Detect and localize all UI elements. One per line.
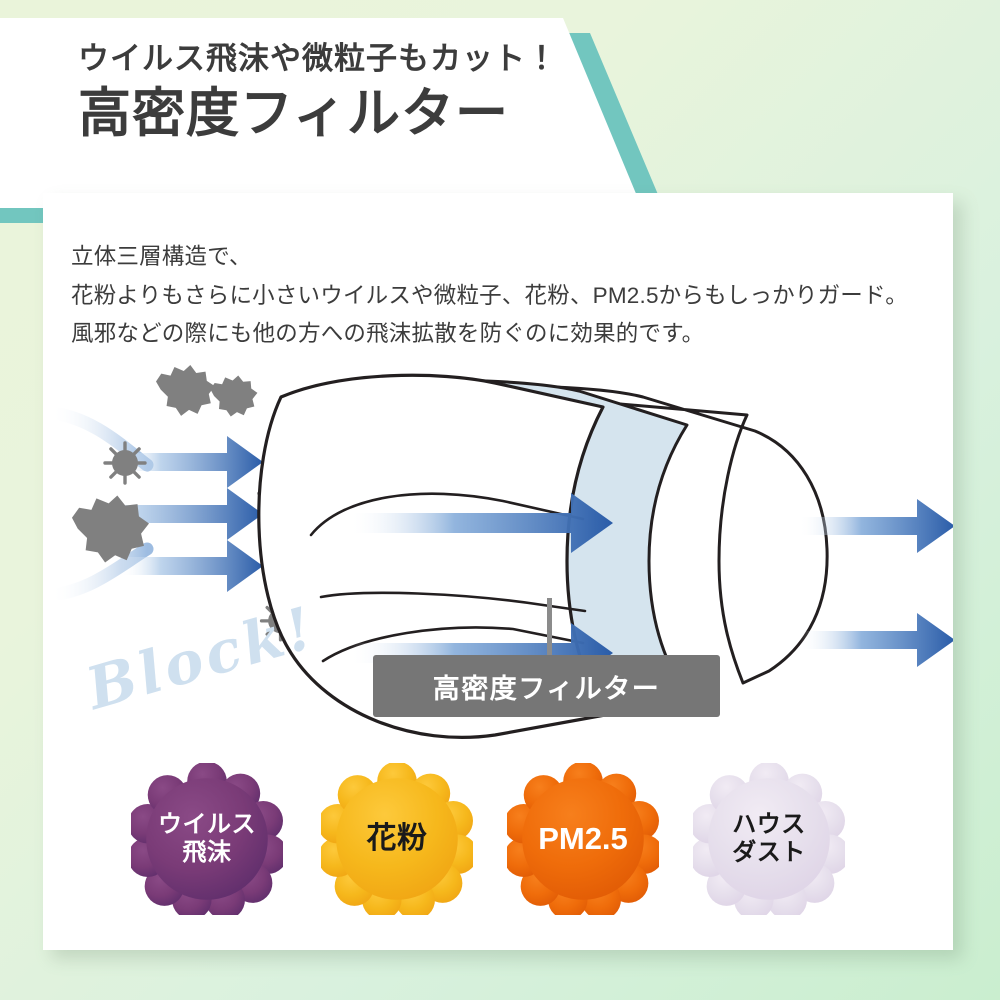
filter-callout-box: 高密度フィルター bbox=[373, 655, 720, 717]
badge-pm25: PM2.5 bbox=[507, 763, 659, 915]
banner-text-group: ウイルス飛沫や微粒子もカット！ 高密度フィルター bbox=[78, 40, 638, 145]
infographic-root: ウイルス飛沫や微粒子もカット！ 高密度フィルター 立体三層構造で、 花粉よりもさ… bbox=[0, 0, 1000, 1000]
body-copy-line-2: 花粉よりもさらに小さいウイルスや微粒子、花粉、PM2.5からもしっかりガード。 bbox=[71, 277, 931, 316]
badge-pollen: 花粉 bbox=[321, 763, 473, 915]
banner-headline: 高密度フィルター bbox=[78, 83, 638, 146]
badge-label: ハウス ダスト bbox=[732, 811, 806, 868]
body-copy-line-1: 立体三層構造で、 bbox=[71, 238, 931, 277]
badge-row: ウイルス 飛沫 bbox=[131, 763, 931, 938]
body-copy: 立体三層構造で、 花粉よりもさらに小さいウイルスや微粒子、花粉、PM2.5からも… bbox=[71, 238, 931, 354]
badge-label: PM2.5 bbox=[538, 821, 628, 858]
content-card: 立体三層構造で、 花粉よりもさらに小さいウイルスや微粒子、花粉、PM2.5からも… bbox=[43, 193, 953, 950]
badge-label: ウイルス 飛沫 bbox=[158, 811, 256, 868]
filter-callout-label: 高密度フィルター bbox=[433, 667, 660, 706]
body-copy-line-3: 風邪などの際にも他の方への飛沫拡散を防ぐのに効果的です。 bbox=[71, 315, 931, 354]
badge-label: 花粉 bbox=[367, 821, 428, 856]
badge-virus-droplet: ウイルス 飛沫 bbox=[131, 763, 283, 915]
banner-kicker: ウイルス飛沫や微粒子もカット！ bbox=[78, 40, 638, 79]
badge-house-dust: ハウス ダスト bbox=[693, 763, 845, 915]
callout-leader-line bbox=[547, 598, 552, 658]
